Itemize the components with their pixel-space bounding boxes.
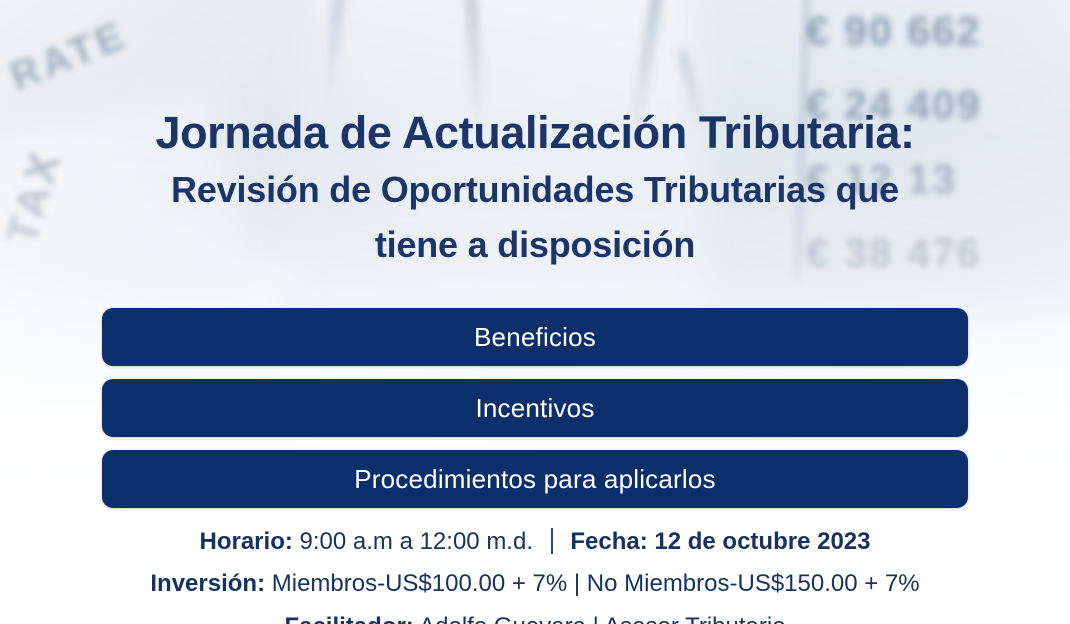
- page-subtitle-line-1: Revisión de Oportunidades Tributarias qu…: [0, 162, 1070, 217]
- topic-bar-incentivos[interactable]: Incentivos: [102, 379, 968, 437]
- horario-value: 9:00 a.m a 12:00 m.d.: [300, 528, 533, 555]
- horario-label: Horario:: [200, 528, 293, 555]
- fecha-label: Fecha:: [570, 528, 647, 555]
- title-block: Jornada de Actualización Tributaria: Rev…: [0, 104, 1070, 272]
- page-subtitle-line-2: tiene a disposición: [0, 217, 1070, 272]
- fecha-value: 12 de octubre 2023: [654, 528, 870, 555]
- topic-bar-beneficios[interactable]: Beneficios: [102, 308, 968, 366]
- topic-bar-label: Beneficios: [474, 322, 596, 353]
- topic-bar-label: Incentivos: [475, 393, 594, 424]
- page-title: Jornada de Actualización Tributaria:: [0, 104, 1070, 162]
- flyer-content: Jornada de Actualización Tributaria: Rev…: [0, 0, 1070, 624]
- facilitator-line: Facilitador: Adolfo Guevara | Asesor Tri…: [0, 609, 1070, 624]
- topic-bar-procedimientos[interactable]: Procedimientos para aplicarlos: [102, 450, 968, 508]
- schedule-and-date-line: Horario: 9:00 a.m a 12:00 m.d. Fecha: 12…: [0, 524, 1070, 560]
- topic-bar-list: Beneficios Incentivos Procedimientos par…: [102, 308, 968, 521]
- inversion-label: Inversión:: [150, 570, 265, 597]
- facilitador-label: Facilitador:: [284, 613, 413, 624]
- inversion-value: Miembros-US$100.00 + 7% | No Miembros-US…: [272, 570, 920, 597]
- detail-separator: [551, 528, 553, 554]
- facilitador-value: Adolfo Guevara | Asesor Tributario: [419, 613, 785, 624]
- event-details-block: Horario: 9:00 a.m a 12:00 m.d. Fecha: 12…: [0, 524, 1070, 624]
- flyer-canvas: RATE TAX € 90 662 € 24 409 € 12 13 € 38 …: [0, 0, 1070, 624]
- topic-bar-label: Procedimientos para aplicarlos: [354, 464, 716, 495]
- investment-line: Inversión: Miembros-US$100.00 + 7% | No …: [0, 566, 1070, 602]
